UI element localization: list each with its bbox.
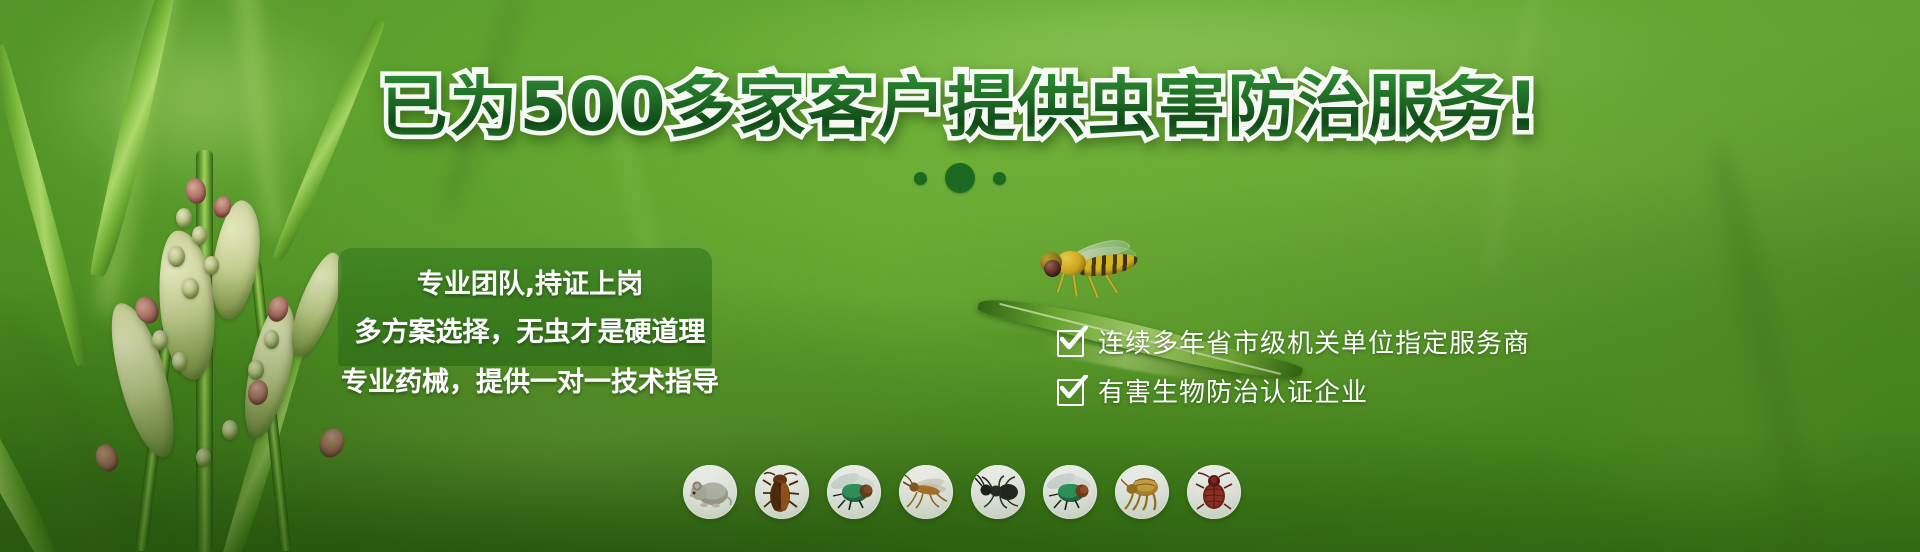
credential-label: 连续多年省市级机关单位指定服务商 <box>1098 331 1530 357</box>
feature-line-3: 专业药械，提供一对一技术指导 <box>341 358 719 408</box>
dot-small-icon <box>914 172 927 185</box>
dot-large-icon <box>945 163 975 193</box>
cockroach-icon[interactable] <box>755 465 809 519</box>
fly-icon[interactable] <box>1043 465 1097 519</box>
fly-icon[interactable] <box>827 465 881 519</box>
list-item: 有害生物防治认证企业 <box>1057 379 1530 406</box>
feature-line-2: 多方案选择，无虫才是硬道理 <box>355 308 706 358</box>
decor-dots <box>0 163 1920 193</box>
headline-text: 已为500多家客户提供虫害防治服务! <box>0 74 1920 142</box>
checkbox-checked-icon <box>1057 379 1084 406</box>
credential-list: 连续多年省市级机关单位指定服务商 有害生物防治认证企业 <box>1057 330 1530 406</box>
flea-icon[interactable] <box>1115 465 1169 519</box>
feature-panel-text: 专业团队,持证上岗 多方案选择，无虫才是硬道理 专业药械，提供一对一技术指导 <box>300 262 760 408</box>
ant-icon[interactable] <box>971 465 1025 519</box>
headline: 已为500多家客户提供虫害防治服务! 已为500多家客户提供虫害防治服务! <box>0 74 1920 154</box>
feature-line-1: 专业团队,持证上岗 <box>417 262 643 308</box>
pest-icon-row <box>683 465 1241 519</box>
mouse-icon[interactable] <box>683 465 737 519</box>
credential-label: 有害生物防治认证企业 <box>1098 380 1368 406</box>
bedbug-icon[interactable] <box>1187 465 1241 519</box>
list-item: 连续多年省市级机关单位指定服务商 <box>1057 330 1530 357</box>
mosquito-icon[interactable] <box>899 465 953 519</box>
promo-banner: 已为500多家客户提供虫害防治服务! 已为500多家客户提供虫害防治服务! 专业… <box>0 0 1920 552</box>
checkbox-checked-icon <box>1057 330 1084 357</box>
dot-small-icon <box>993 172 1006 185</box>
